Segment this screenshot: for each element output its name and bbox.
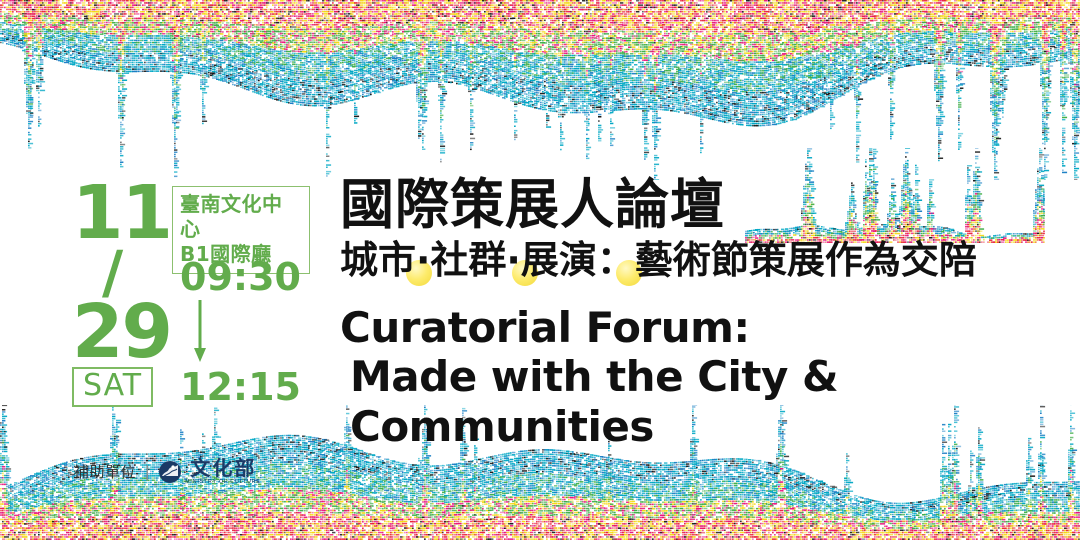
title-english-line-1: Curatorial Forum: — [340, 304, 1040, 352]
venue-line-1: 臺南文化中心 — [180, 192, 302, 242]
spectrogram-band-top — [0, 0, 1080, 180]
title-english-line-2: Made with the City & Communities — [340, 352, 1040, 452]
ministry-of-culture-emblem-icon — [158, 460, 182, 484]
title-block: 國際策展人論壇 城市·社群·展演：藝術節策展作為交陪 Curatorial Fo… — [340, 176, 1040, 452]
title-chinese-sub-wrap: 城市·社群·展演：藝術節策展作為交陪 — [340, 238, 1040, 282]
day-number: 29 — [72, 289, 171, 375]
event-poster: 11 / 29 SAT 臺南文化中心 B1國際廳 09:30 12:15 國際策… — [0, 0, 1080, 540]
title-english: Curatorial Forum: Made with the City & C… — [340, 304, 1040, 452]
arrow-down-icon — [192, 300, 208, 362]
end-time: 12:15 — [180, 368, 301, 406]
sponsor-divider: | — [145, 462, 149, 482]
sponsor-label: 補助單位 — [74, 462, 136, 482]
title-chinese-sub: 城市·社群·展演：藝術節策展作為交陪 — [340, 238, 977, 282]
ministry-of-culture-zh: 文化部 — [190, 458, 256, 479]
month-number: 11 — [72, 170, 171, 256]
ministry-of-culture-wordmark: 文化部 MINISTRY OF CULTURE — [187, 458, 259, 486]
ministry-of-culture-en: MINISTRY OF CULTURE — [186, 479, 261, 486]
ministry-of-culture-logo: 文化部 MINISTRY OF CULTURE — [158, 458, 259, 486]
sponsor-row: 補助單位 | 文化部 MINISTRY OF CULTURE — [74, 458, 259, 486]
start-time: 09:30 — [180, 258, 301, 296]
title-chinese-main: 國際策展人論壇 — [340, 176, 1040, 234]
